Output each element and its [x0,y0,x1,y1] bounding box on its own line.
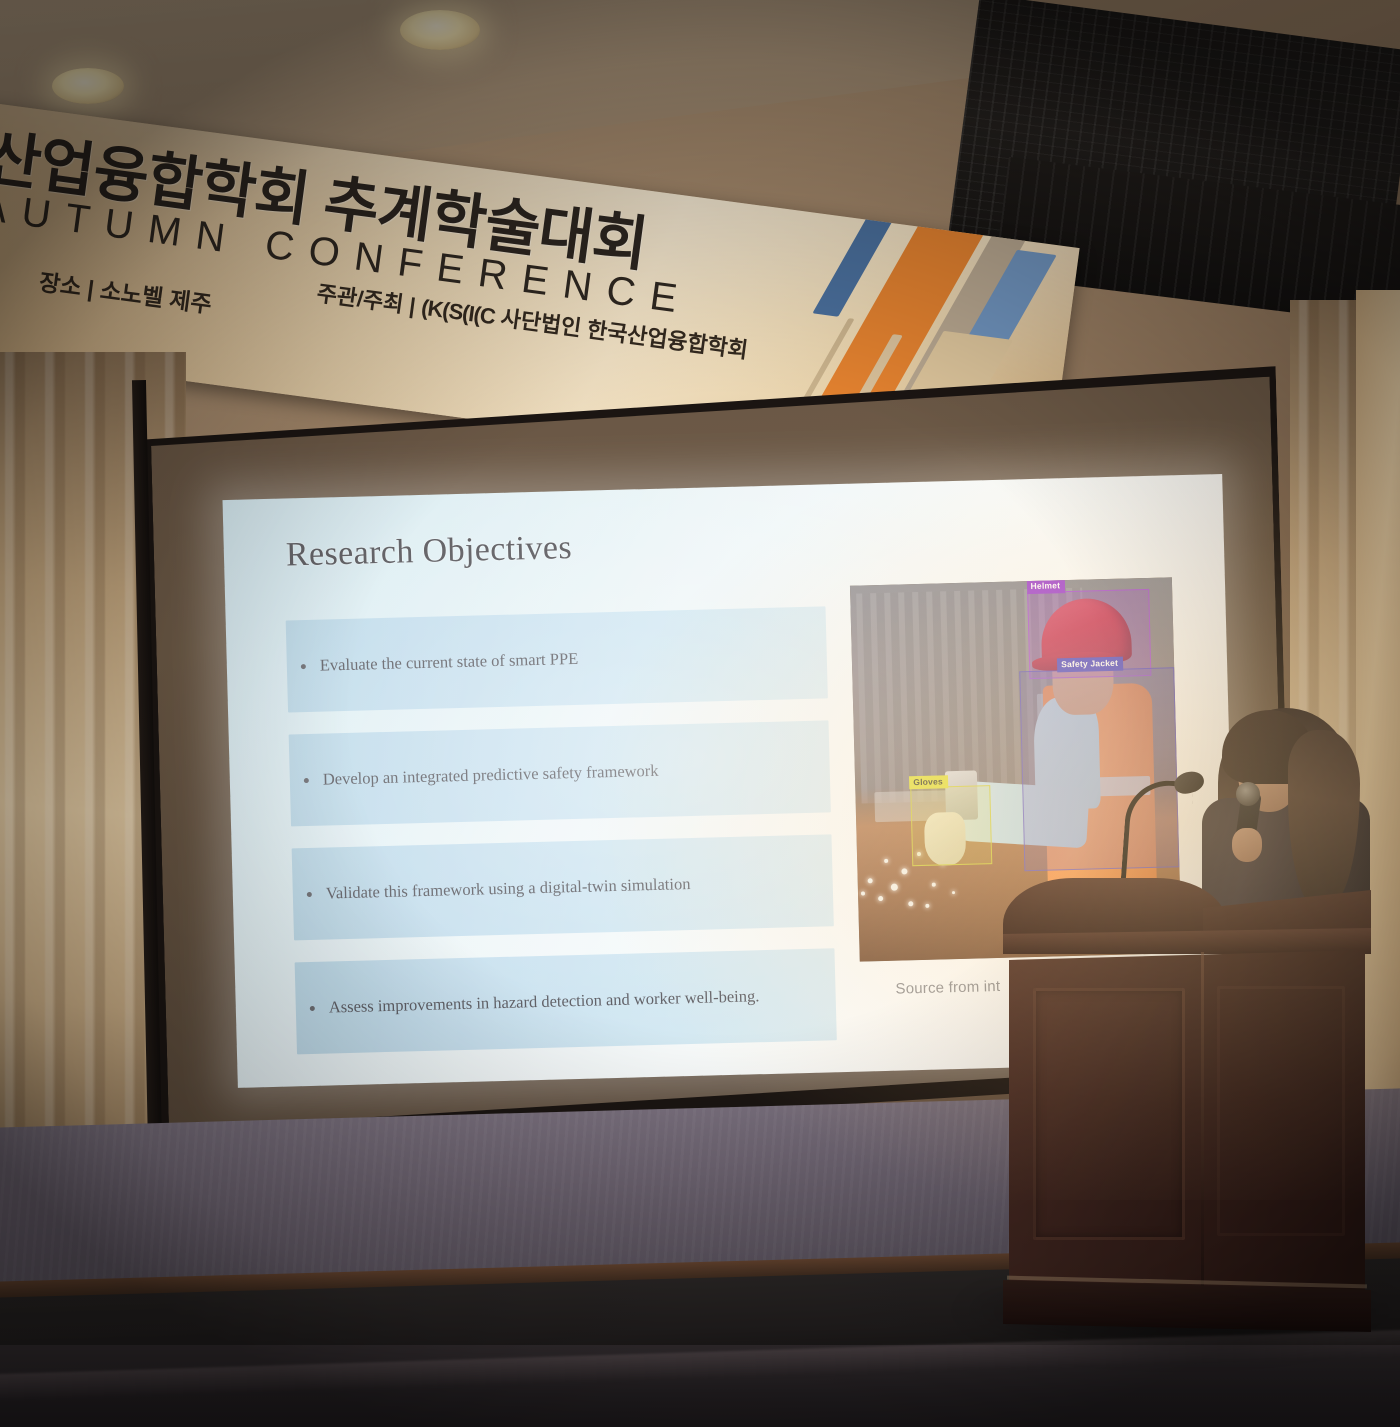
bullet-text: Develop an integrated predictive safety … [323,761,659,790]
bullet-dot-icon [307,891,312,896]
lectern-podium [1003,866,1371,1340]
detection-label-gloves: Gloves [909,775,948,789]
detection-label-safety-jacket: Safety Jacket [1057,657,1123,672]
podium-side-panel [1217,986,1345,1236]
slide-title: Research Objectives [285,529,572,574]
presenter-hand [1232,828,1262,862]
podium-top-arch [1003,878,1227,938]
bullet-item: Validate this framework using a digital-… [292,834,834,940]
handheld-microphone-head-icon [1236,782,1260,806]
ceiling-downlight-icon [52,68,124,104]
photo-source-caption: Source from int [895,978,1000,998]
detection-label-helmet: Helmet [1026,579,1065,593]
bullet-dot-icon [304,777,309,782]
bullet-dot-icon [310,1005,315,1010]
slide-bullet-list: Evaluate the current state of smart PPE … [286,606,838,1076]
bullet-text: Validate this framework using a digital-… [326,874,691,903]
bullet-dot-icon [301,664,306,669]
bullet-text: Assess improvements in hazard detection … [329,986,760,1017]
podium-corner-edge [1201,952,1204,1292]
ceiling-downlight-icon [400,10,480,50]
bullet-item: Develop an integrated predictive safety … [289,720,831,826]
detection-box-gloves: Gloves [910,785,993,866]
bullet-text: Evaluate the current state of smart PPE [320,649,579,676]
podium-front-panel [1033,988,1185,1240]
bullet-item: Assess improvements in hazard detection … [295,948,837,1054]
conference-room-photo: 국산업융합학회 추계학술대회 5 AUTUMN CONFERENCE 28일(금… [0,0,1400,1427]
bullet-item: Evaluate the current state of smart PPE [286,606,828,712]
